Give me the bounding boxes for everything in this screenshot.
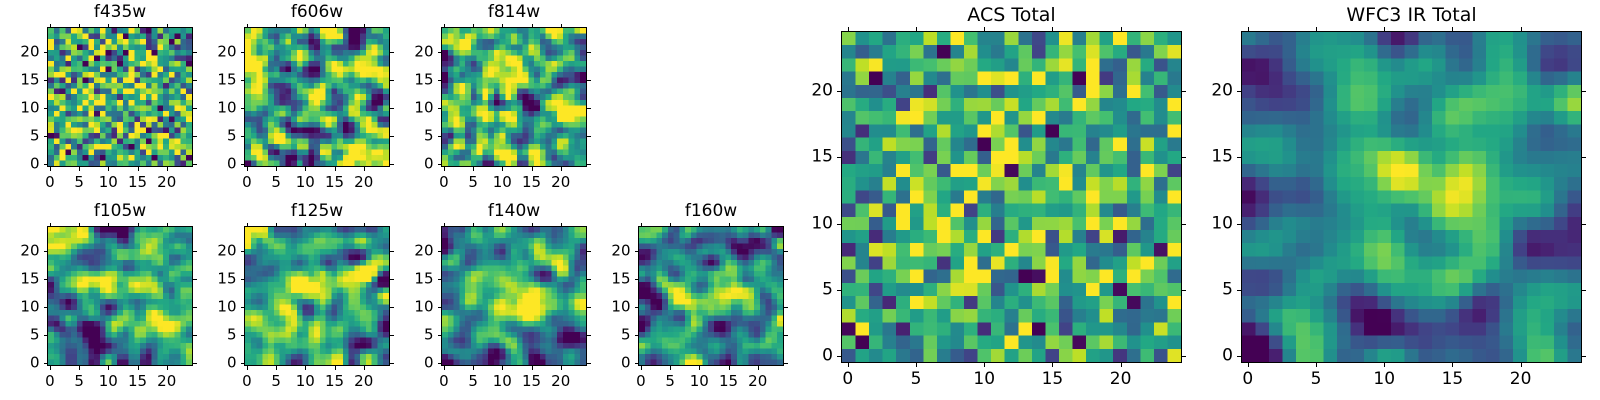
heatmap-image-wfc3-ir-total (1242, 32, 1581, 362)
panel-title-wfc3-ir-total: WFC3 IR Total (1241, 6, 1582, 25)
ytick-wfc3-ir-total-10 (1237, 224, 1241, 225)
yticklabel-wfc3-ir-total-10: 10 (0, 215, 1233, 232)
xtick-top-wfc3-ir-total-15 (1452, 27, 1453, 31)
ytick-right-wfc3-ir-total-0 (1582, 356, 1586, 357)
ytick-wfc3-ir-total-5 (1237, 290, 1241, 291)
xticklabel-wfc3-ir-total-0: 0 (1242, 371, 1253, 388)
ytick-right-wfc3-ir-total-15 (1582, 157, 1586, 158)
xtick-wfc3-ir-total-10 (1384, 363, 1385, 367)
ytick-right-wfc3-ir-total-5 (1582, 290, 1586, 291)
xtick-wfc3-ir-total-5 (1316, 363, 1317, 367)
xticklabel-wfc3-ir-total-10: 10 (1373, 371, 1395, 388)
xtick-top-wfc3-ir-total-0 (1248, 27, 1249, 31)
xtick-wfc3-ir-total-20 (1521, 363, 1522, 367)
yticklabel-wfc3-ir-total-0: 0 (0, 348, 1233, 365)
xticklabel-wfc3-ir-total-5: 5 (1311, 371, 1322, 388)
xtick-wfc3-ir-total-15 (1452, 363, 1453, 367)
xticklabel-wfc3-ir-total-15: 15 (1442, 371, 1464, 388)
xtick-top-wfc3-ir-total-20 (1521, 27, 1522, 31)
xtick-top-wfc3-ir-total-5 (1316, 27, 1317, 31)
ytick-right-wfc3-ir-total-20 (1582, 91, 1586, 92)
ytick-wfc3-ir-total-15 (1237, 157, 1241, 158)
xtick-wfc3-ir-total-0 (1248, 363, 1249, 367)
yticklabel-wfc3-ir-total-5: 5 (0, 281, 1233, 298)
xticklabel-wfc3-ir-total-20: 20 (1510, 371, 1532, 388)
ytick-right-wfc3-ir-total-10 (1582, 224, 1586, 225)
xtick-top-wfc3-ir-total-10 (1384, 27, 1385, 31)
yticklabel-wfc3-ir-total-20: 20 (0, 82, 1233, 99)
yticklabel-wfc3-ir-total-15: 15 (0, 149, 1233, 166)
ytick-wfc3-ir-total-20 (1237, 91, 1241, 92)
ytick-wfc3-ir-total-0 (1237, 356, 1241, 357)
panel-wfc3-ir-total: WFC3 IR Total0510152005101520 (0, 0, 1600, 400)
heatmap-axes-wfc3-ir-total (1241, 31, 1582, 363)
